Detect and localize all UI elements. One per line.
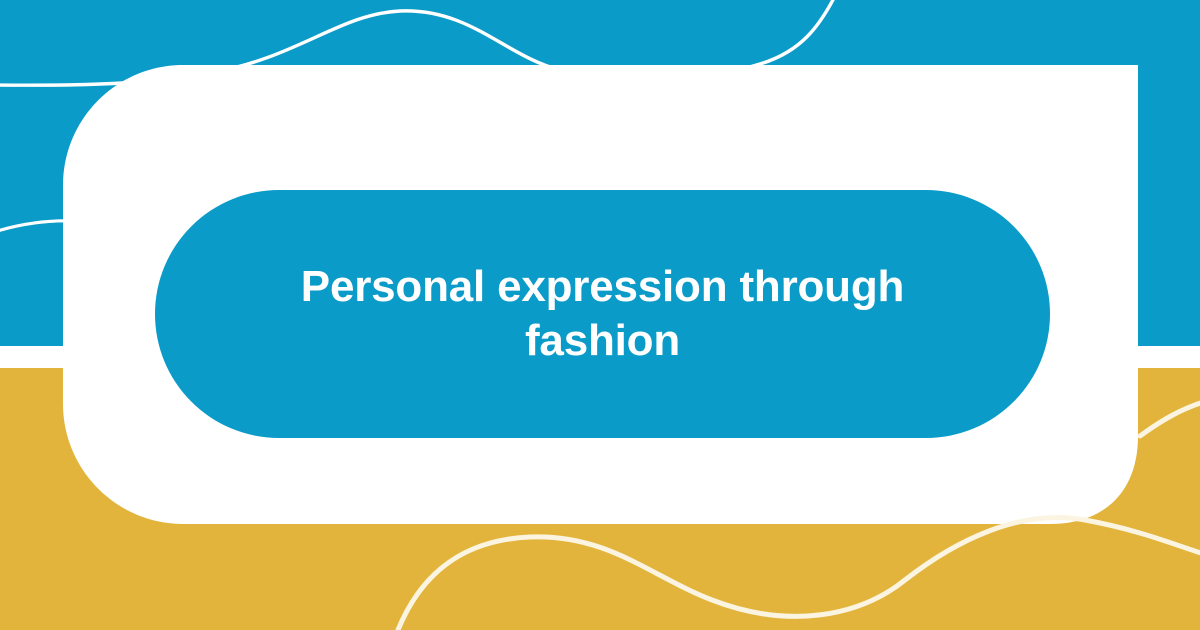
social-card-canvas: Personal expression through fashion [0,0,1200,630]
headline-container: Personal expression through fashion [155,190,1050,438]
page-title: Personal expression through fashion [225,260,980,367]
